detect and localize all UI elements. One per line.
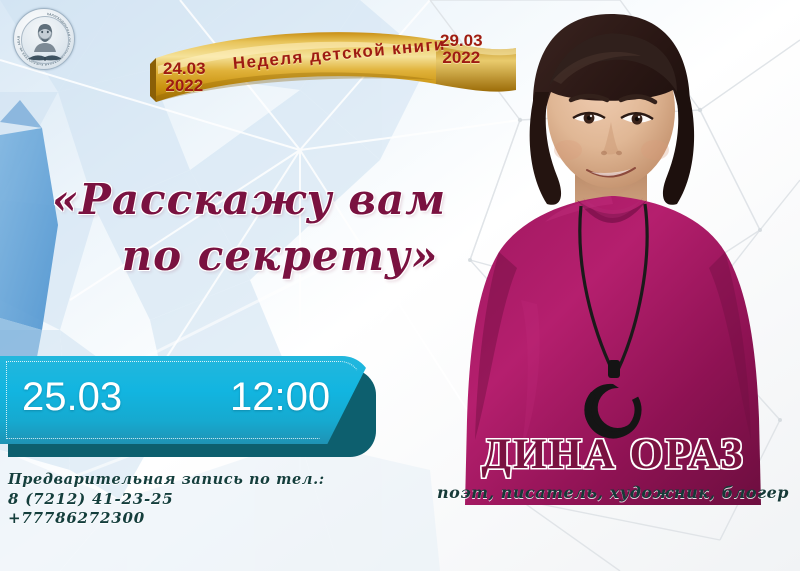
speaker-role: поэт, писатель, художник, блогер — [430, 483, 796, 502]
emblem-portrait-icon — [31, 22, 59, 52]
speaker-photo — [425, 0, 800, 505]
ribbon-start-day: 24.03 — [163, 60, 206, 77]
speaker-name: ДИНА ОРАЗ — [430, 432, 796, 478]
ribbon-start-year: 2022 — [163, 77, 206, 94]
event-poster: КАРАГАНДИНСКАЯ ОБЛАСТНАЯ ДЕТСКАЯ БИБЛИОТ… — [0, 0, 800, 571]
library-emblem-logo: КАРАГАНДИНСКАЯ ОБЛАСТНАЯ ДЕТСКАЯ БИБЛИОТ… — [13, 8, 75, 70]
contact-phone-local[interactable]: 8 (7212) 41-23-25 — [8, 490, 388, 509]
emblem-open-book-icon — [26, 49, 64, 62]
contact-lead-text: Предварительная запись по тел.: — [8, 470, 388, 490]
ribbon-start-date: 24.03 2022 — [163, 60, 206, 94]
event-title-line-1: «Расскажу вам — [52, 172, 482, 228]
event-title-line-2: по секрету» — [52, 228, 482, 284]
event-time: 12:00 — [230, 375, 330, 420]
banner-body: 25.03 12:00 — [0, 356, 372, 444]
date-time-banner: 25.03 12:00 — [0, 345, 392, 460]
contact-phone-mobile[interactable]: +77786272300 — [8, 509, 388, 528]
speaker-block: ДИНА ОРАЗ поэт, писатель, художник, блог… — [430, 432, 796, 502]
event-title: «Расскажу вам по секрету» — [52, 172, 482, 284]
event-date: 25.03 — [22, 375, 122, 420]
contact-block: Предварительная запись по тел.: 8 (7212)… — [8, 470, 388, 528]
